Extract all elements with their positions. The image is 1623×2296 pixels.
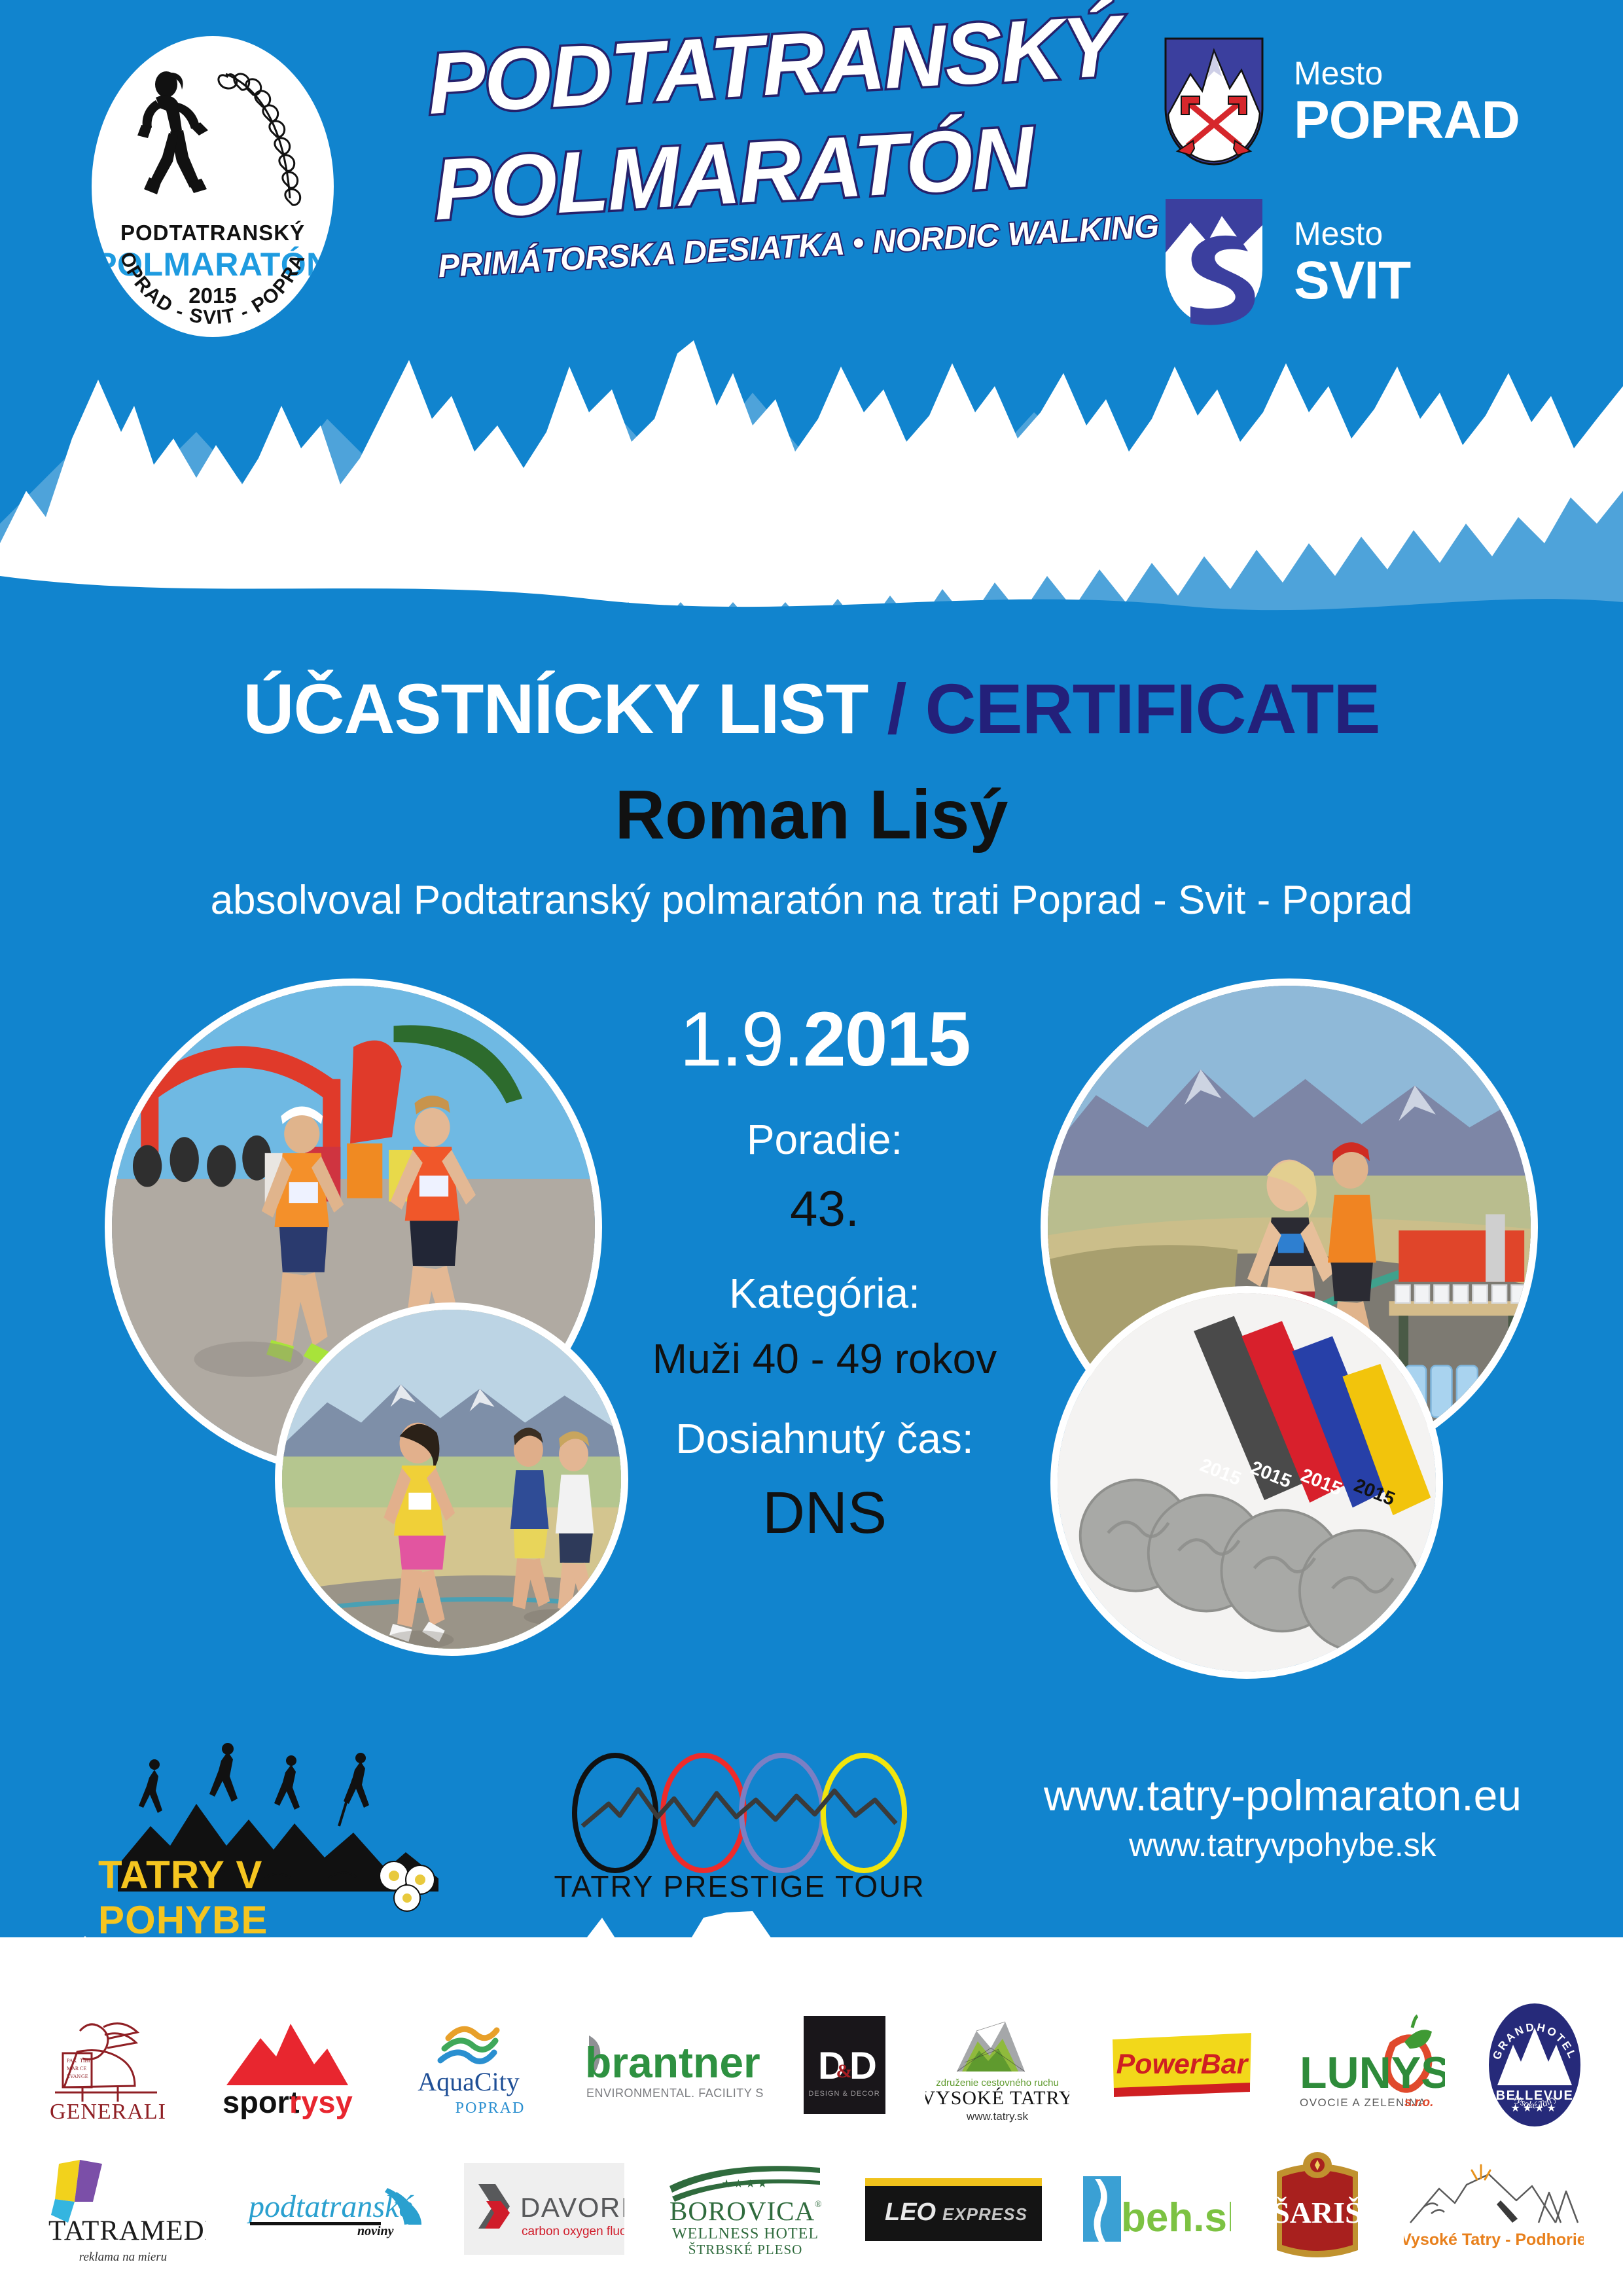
header: PODTATRANSKÝ POLMARATÓN 2015 POPRAD - SV… — [0, 0, 1623, 367]
svit-name: SVIT — [1294, 253, 1410, 309]
sponsor-tatramedia-sub: reklama na mieru — [79, 2250, 167, 2264]
sponsor-brantner-sub: ENVIRONMENTAL. FACILITY SERVICES — [586, 2087, 763, 2100]
badge-arc-text: POPRAD - SVIT - POPRAD — [92, 36, 334, 337]
sponsor-tatramedia-label: TATRAMEDIA — [48, 2215, 206, 2246]
svg-text:CE: CE — [80, 2066, 86, 2072]
time-value: DNS — [576, 1480, 1073, 1547]
badge-arc-label: POPRAD - SVIT - POPRAD — [92, 36, 310, 329]
certificate-heading: ÚČASTNÍCKY LIST / CERTIFICATE — [0, 668, 1623, 749]
sponsor-lunys-suffix: s.r.o. — [1404, 2096, 1433, 2109]
event-title: PODTATRANSKÝ POLMARATÓN PRIMÁTORSKA DESI… — [425, 0, 1160, 327]
poprad-name: POPRAD — [1294, 92, 1520, 149]
sponsor-borovica-reg: ® — [815, 2200, 822, 2210]
sponsor-aquacity-sub: POPRAD — [455, 2100, 525, 2117]
sponsor-brantner: brantner ENVIRONMENTAL. FACILITY SERVICE… — [580, 1990, 763, 2140]
sponsor-vysoke-tatry-podhorie: Vysoké Tatry - Podhorie — [1404, 2140, 1584, 2278]
category-value: Muži 40 - 49 rokov — [576, 1335, 1073, 1383]
rank-value: 43. — [576, 1181, 1073, 1238]
participant-name: Roman Lisý — [0, 776, 1623, 855]
sponsor-saris: ŠARIŠ — [1270, 2140, 1365, 2278]
sponsor-podhorie-label: Vysoké Tatry - Podhorie — [1404, 2231, 1584, 2249]
sponsor-dd: D D & DESIGN & DECOR — [804, 1990, 885, 2140]
sponsor-vysoke-tatry-url: www.tatry.sk — [966, 2110, 1029, 2123]
photo-medals: 2015 2015 2015 2015 — [1050, 1286, 1443, 1679]
poprad-coat-of-arms-icon — [1162, 36, 1266, 167]
sponsor-tatramedia: TATRAMEDIA reklama na mieru — [39, 2140, 206, 2278]
category-label: Kategória: — [576, 1269, 1073, 1318]
svg-text:MAR: MAR — [67, 2066, 79, 2072]
svit-prefix: Mesto — [1294, 215, 1410, 253]
sponsor-sportrysy-label-2: rysy — [289, 2085, 353, 2119]
sponsor-borovica-label: BOROVICA — [669, 2196, 815, 2226]
sponsor-brantner-label: brantner — [585, 2038, 760, 2087]
city-svit: Mesto SVIT — [1162, 196, 1410, 327]
time-label: Dosiahnutý čas: — [576, 1414, 1073, 1463]
svg-text:TIBI: TIBI — [80, 2058, 90, 2064]
svg-text:PAX: PAX — [67, 2058, 77, 2064]
sponsor-davorin-sub: carbon oxygen fluorine — [522, 2225, 624, 2238]
certificate-blue-panel: PODTATRANSKÝ POLMARATÓN 2015 POPRAD - SV… — [0, 0, 1623, 1937]
sponsor-dd-amp: & — [836, 2060, 852, 2082]
sponsor-row-2: TATRAMEDIA reklama na mieru podtatranské… — [0, 2140, 1623, 2278]
sponsor-aquacity: AquaCity POPRAD — [399, 1990, 539, 2140]
sponsor-borovica-sub: WELLNESS HOTEL — [672, 2225, 819, 2242]
url-secondary[interactable]: www.tatryvpohybe.sk — [969, 1826, 1597, 1864]
sponsor-sportrysy: sport rysy — [217, 1990, 358, 2140]
sponsor-leo-express: LEO EXPRESS — [865, 2140, 1042, 2278]
sponsor-grandhotel-bellevue: GRANDHOTEL BELLEVUE ★★★★ Vysoké Tatry — [1486, 1990, 1584, 2140]
sponsor-leo-label: LEO — [885, 2198, 936, 2226]
sponsor-dd-d2: D — [849, 2045, 877, 2087]
certificate-subtitle: absolvoval Podtatranský polmaratón na tr… — [0, 877, 1623, 924]
sponsor-podtatranske-noviny: podtatranské noviny — [245, 2140, 425, 2278]
photo-field-runners — [275, 1302, 628, 1656]
sponsor-generali-label: GENERALI — [50, 2100, 166, 2124]
sponsor-aquacity-label: AquaCity — [418, 2067, 520, 2096]
tatra-mountains-illustration — [0, 327, 1623, 635]
bottom-mountain-edge — [0, 1885, 1623, 1937]
url-primary[interactable]: www.tatry-polmaraton.eu — [969, 1770, 1597, 1820]
sponsor-bar: PAXTIBI MARCE EVANGE GENERALI sport rysy — [0, 1990, 1623, 2296]
svg-text:POPRAD - SVIT - POPRAD: POPRAD - SVIT - POPRAD — [92, 36, 310, 329]
sponsor-borovica-extra: ŠTRBSKÉ PLESO — [688, 2242, 803, 2257]
sponsor-sportrysy-label-1: sport — [223, 2085, 300, 2119]
sponsor-express-label: EXPRESS — [942, 2204, 1027, 2224]
race-date: 1.9.2015 — [576, 995, 1073, 1084]
tatry-prestige-tour-logo-icon — [553, 1748, 926, 1878]
sponsor-lunys-label: LUNYS — [1300, 2048, 1445, 2098]
rank-label: Poradie: — [576, 1115, 1073, 1164]
sponsor-behsk: beh.sk — [1080, 2140, 1231, 2278]
sponsor-vysoke-tatry-label: VYSOKÉ TATRY — [925, 2087, 1069, 2109]
sponsor-row-1: PAXTIBI MARCE EVANGE GENERALI sport rysy — [0, 1990, 1623, 2140]
race-date-day: 1.9. — [679, 996, 803, 1083]
event-logo-badge: PODTATRANSKÝ POLMARATÓN 2015 POPRAD - SV… — [92, 36, 334, 337]
city-poprad: Mesto POPRAD — [1162, 36, 1520, 167]
certificate-heading-en: / CERTIFICATE — [887, 669, 1380, 748]
svit-coat-of-arms-icon — [1162, 196, 1266, 327]
poprad-prefix: Mesto — [1294, 54, 1520, 92]
svg-text:GE: GE — [81, 2073, 88, 2079]
svg-text:EVAN: EVAN — [67, 2073, 80, 2079]
sponsor-powerbar-label: PowerBar — [1116, 2049, 1249, 2080]
sponsor-saris-label: ŠARIŠ — [1273, 2196, 1362, 2229]
sponsor-podtatranske-sub: noviny — [357, 2224, 394, 2238]
sponsor-powerbar: PowerBar — [1110, 1990, 1254, 2140]
sponsor-davorin-label: DAVORIN — [520, 2192, 624, 2223]
certificate-heading-sk: ÚČASTNÍCKY LIST — [243, 669, 868, 748]
sponsor-borovica: ★★★★ BOROVICA ® WELLNESS HOTEL ŠTRBSKÉ P… — [663, 2140, 827, 2278]
sponsor-vysoke-tatry: združenie cestovného ruchu VYSOKÉ TATRY … — [925, 1990, 1069, 2140]
sponsor-lunys: LUNYS OVOCIE A ZELENINA s.r.o. — [1294, 1990, 1445, 2140]
sponsor-dd-sub: DESIGN & DECOR — [808, 2090, 880, 2098]
sponsor-generali: PAXTIBI MARCE EVANGE GENERALI — [39, 1990, 177, 2140]
result-details: 1.9.2015 Poradie: 43. Kategória: Muži 40… — [576, 995, 1073, 1547]
sponsor-davorin: DAVORIN carbon oxygen fluorine — [464, 2140, 624, 2278]
race-date-year: 2015 — [803, 996, 970, 1083]
sponsor-behsk-label: beh.sk — [1121, 2195, 1231, 2240]
sponsor-borovica-stars: ★★★★ — [721, 2178, 769, 2190]
